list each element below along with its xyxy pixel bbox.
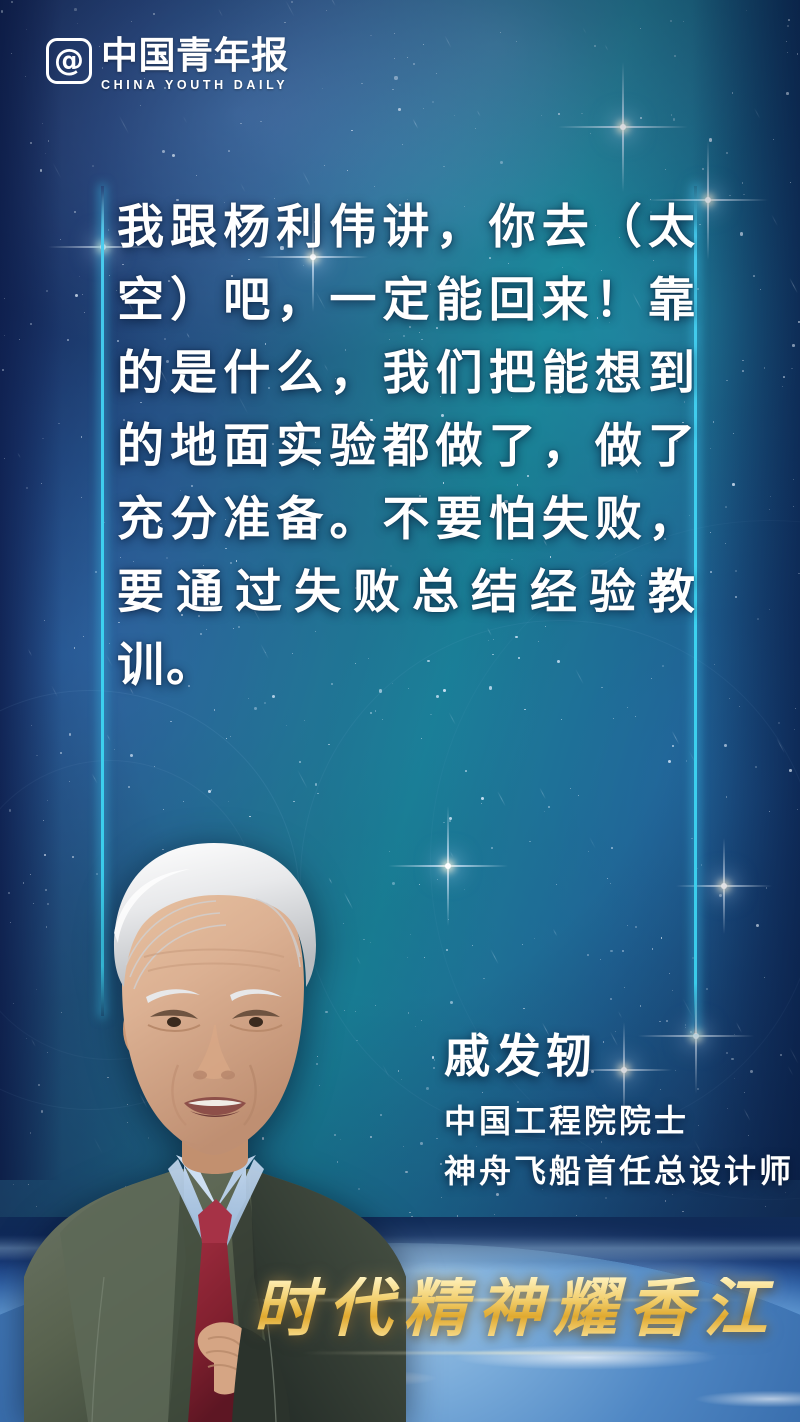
quote-text: 我跟杨利伟讲，你去（太空）吧，一定能回来！靠的是什么，我们把能想到的地面实验都做… xyxy=(117,190,697,701)
brand-logo: @ 中国青年报 CHINA YOUTH DAILY xyxy=(46,36,289,92)
speaker-title-line-1: 中国工程院院士 xyxy=(444,1098,794,1144)
speaker-title-line-2: 神舟飞船首任总设计师 xyxy=(444,1148,794,1194)
poster-canvas: @ 中国青年报 CHINA YOUTH DAILY 我跟杨利伟讲，你去（太空）吧… xyxy=(0,0,800,1422)
brand-name-cn: 中国青年报 xyxy=(101,36,289,75)
brand-name-en: CHINA YOUTH DAILY xyxy=(101,78,289,92)
brand-logo-text: 中国青年报 CHINA YOUTH DAILY xyxy=(101,36,289,92)
attribution-block: 戚发轫 中国工程院院士 神舟飞船首任总设计师 xyxy=(444,1033,794,1194)
slogan-glow-line-bottom xyxy=(300,1352,720,1354)
slogan-calligraphy: 时代精神耀香江 xyxy=(253,1277,778,1341)
at-symbol-icon: @ xyxy=(46,38,92,84)
speaker-name: 戚发轫 xyxy=(444,1033,794,1079)
